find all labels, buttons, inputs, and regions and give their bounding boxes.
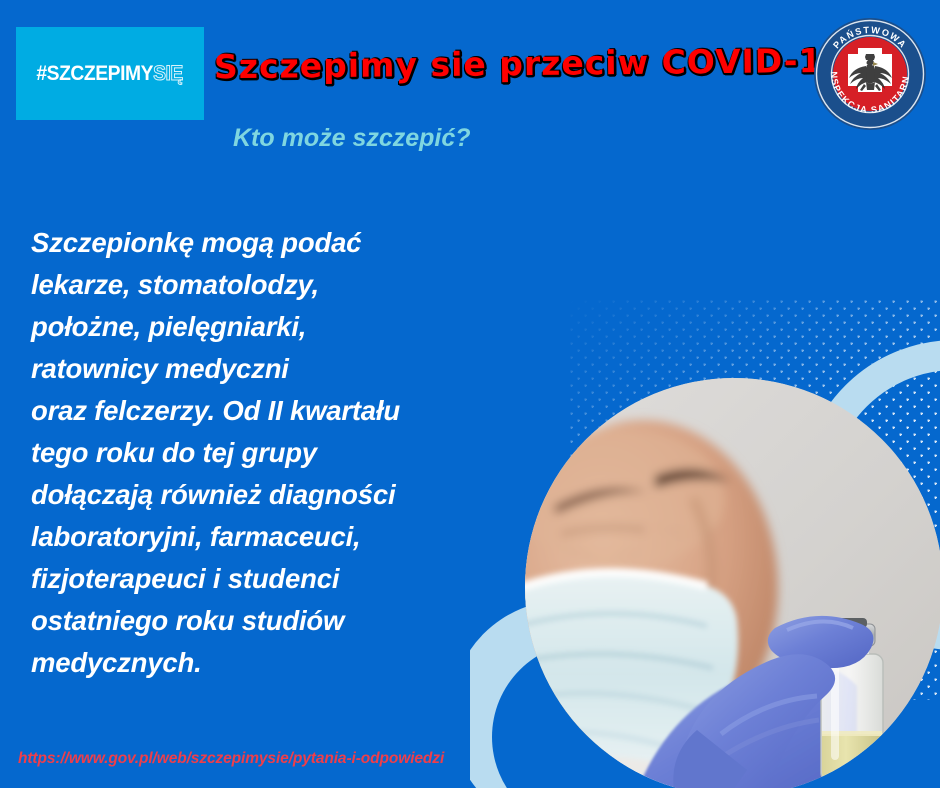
body-line: Szczepionkę mogą podać	[31, 222, 511, 264]
body-line: dołączają również diagności	[31, 474, 511, 516]
body-line: ratownicy medyczni	[31, 348, 511, 390]
body-line: ostatniego roku studiów	[31, 600, 511, 642]
panstwowa-inspekcja-sanitarna-emblem: PAŃSTWOWA INSPEKCJA SANITARNA	[812, 16, 928, 132]
source-url-link[interactable]: https://www.gov.pl/web/szczepimysie/pyta…	[18, 750, 444, 768]
body-line: położne, pielęgniarki,	[31, 306, 511, 348]
brand-hashtag-main: #SZCZEPIMY	[37, 62, 154, 86]
szczepimysie-wordmark: #SZCZEPIMYSIĘ	[37, 62, 183, 86]
body-line: oraz felczerzy. Od II kwartału	[31, 390, 511, 432]
poster-canvas: #SZCZEPIMYSIĘ Szczepimy sie przeciw COVI…	[0, 0, 940, 788]
szczepimysie-logo-box: #SZCZEPIMYSIĘ	[16, 27, 204, 120]
body-line: tego roku do tej grupy	[31, 432, 511, 474]
body-line: lekarze, stomatolodzy,	[31, 264, 511, 306]
healthcare-worker-photo	[525, 378, 940, 788]
body-line: fizjoterapeuci i studenci	[31, 558, 511, 600]
brand-hashtag-outline: SIĘ	[153, 62, 183, 86]
page-subtitle: Kto może szczepić?	[233, 124, 471, 153]
page-title: Szczepimy sie przeciw COVID-19	[214, 41, 847, 87]
body-line: medycznych.	[31, 642, 511, 684]
body-text: Szczepionkę mogą podać lekarze, stomatol…	[31, 222, 511, 684]
body-line: laboratoryjni, farmaceuci,	[31, 516, 511, 558]
